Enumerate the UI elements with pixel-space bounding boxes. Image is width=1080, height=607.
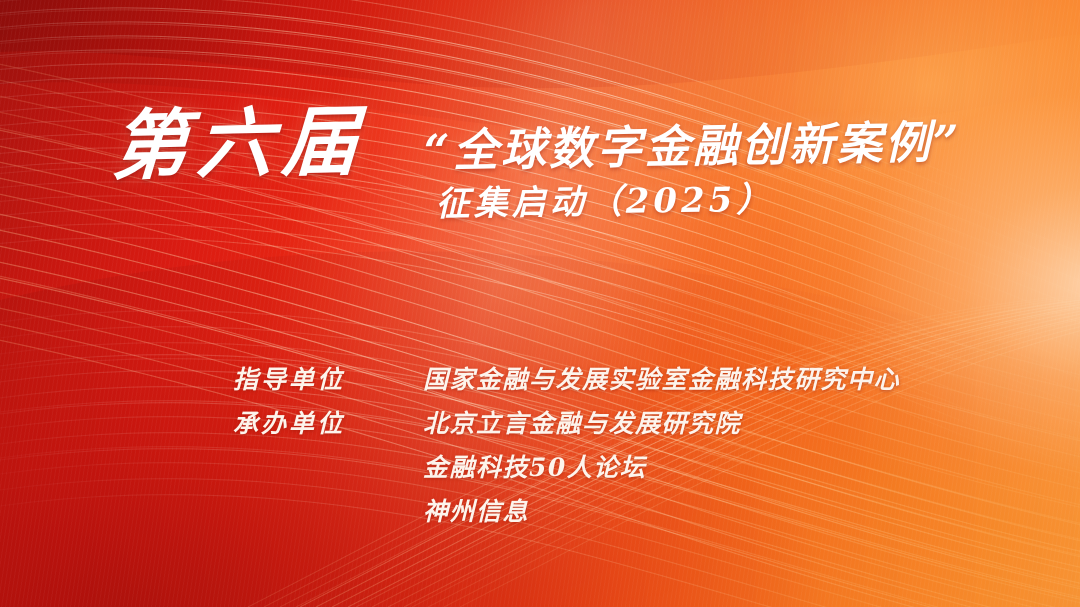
credit-value: 北京立言金融与发展研究院 bbox=[423, 404, 993, 440]
credit-value: 神州信息 bbox=[423, 492, 993, 528]
case-title-heading: “全球数字金融创新案例” bbox=[424, 119, 962, 173]
credits-block: 指导单位 国家金融与发展实验室金融科技研究中心 承办单位 北京立言金融与发展研究… bbox=[233, 360, 993, 536]
poster-content: 第六届 “全球数字金融创新案例” 征集启动（2025） 指导单位 国家金融与发展… bbox=[0, 0, 1080, 607]
credit-value: 国家金融与发展实验室金融科技研究中心 bbox=[423, 360, 993, 396]
credit-label: 指导单位 bbox=[233, 360, 423, 396]
poster-canvas: 第六届 “全球数字金融创新案例” 征集启动（2025） 指导单位 国家金融与发展… bbox=[0, 0, 1080, 607]
credit-row: 指导单位 国家金融与发展实验室金融科技研究中心 bbox=[233, 360, 993, 404]
credit-row: 承办单位 北京立言金融与发展研究院 bbox=[233, 404, 993, 448]
credit-row: 神州信息 bbox=[233, 492, 993, 536]
edition-heading: 第六届 bbox=[110, 103, 369, 184]
credit-value: 金融科技50人论坛 bbox=[423, 448, 993, 484]
credit-row: 金融科技50人论坛 bbox=[233, 448, 993, 492]
credit-label: 承办单位 bbox=[233, 404, 423, 440]
